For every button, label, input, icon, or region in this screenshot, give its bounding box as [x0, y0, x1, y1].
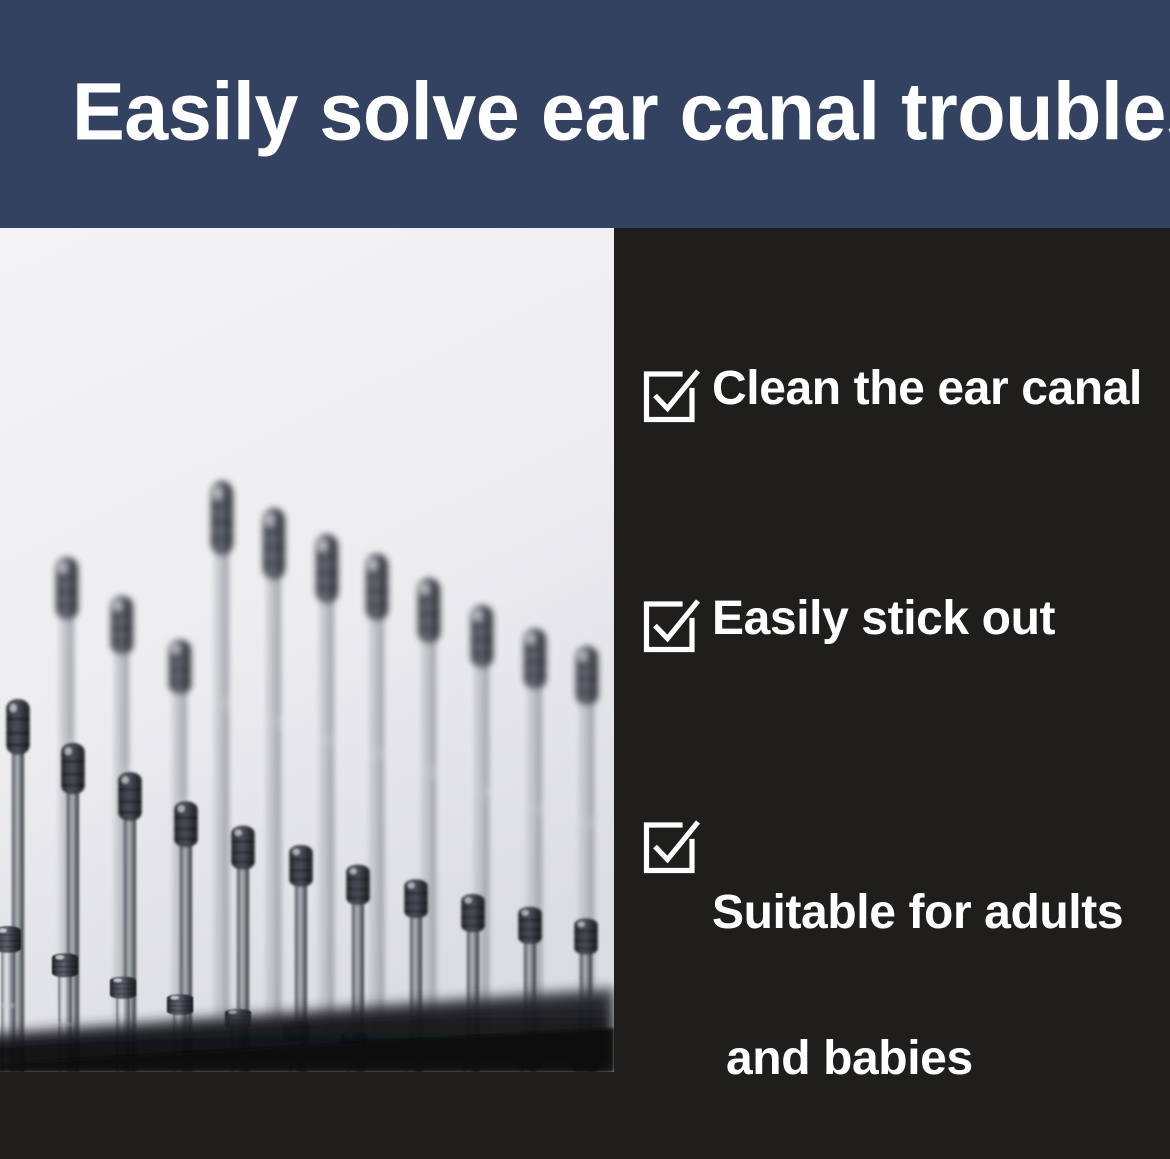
feature-item-suitable-for-adults-and-babies[interactable]: Suitable for adults and babies: [614, 811, 1123, 1159]
feature-label-line-1: Suitable for adults: [712, 886, 1123, 939]
feature-item-clean-ear-canal[interactable]: Clean the ear canal: [614, 360, 1142, 426]
checked-checkbox-icon: [640, 594, 702, 656]
checked-checkbox-icon: [640, 815, 702, 877]
page-title: Easily solve ear canal troubles: [72, 71, 1170, 153]
feature-list: Clean the ear canal Easily stick out Su: [614, 228, 1170, 1159]
feature-label: Clean the ear canal: [712, 353, 1142, 426]
product-photo: [0, 228, 614, 1072]
feature-label-block: Suitable for adults and babies: [712, 804, 1123, 1159]
feature-label-line-2: and babies: [712, 1023, 1123, 1096]
feature-item-easily-stick-out[interactable]: Easily stick out: [614, 590, 1055, 656]
feature-label: Easily stick out: [712, 583, 1055, 656]
promo-banner-page: Easily solve ear canal troubles: [0, 0, 1170, 1159]
header-banner: Easily solve ear canal troubles: [0, 0, 1170, 228]
checked-checkbox-icon: [640, 364, 702, 426]
product-photo-image: [0, 228, 614, 1072]
